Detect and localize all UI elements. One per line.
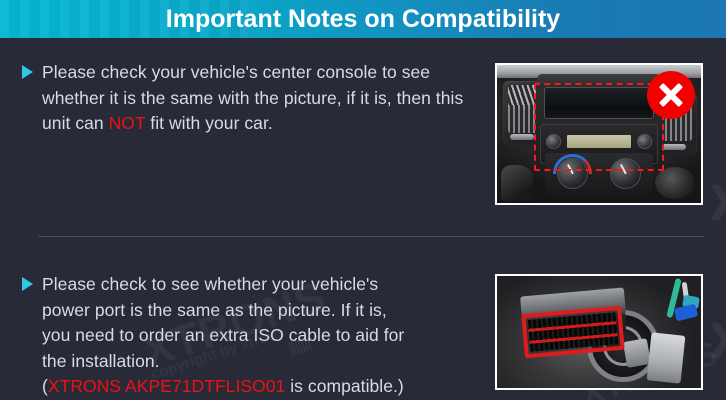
vent-knob-left [510, 134, 534, 140]
white-connector [647, 332, 686, 383]
product-code: XTRONS AKPE71DTFLISO01 [48, 376, 285, 396]
note-item-1: Please check your vehicle's center conso… [22, 60, 482, 137]
note-2-text: Please check to see whether your vehicle… [42, 272, 404, 400]
grey-connector [623, 338, 651, 368]
harness-pin-grid [528, 312, 618, 352]
console-image-canvas [497, 65, 701, 203]
cup-holder [655, 167, 695, 199]
red-x-badge [647, 71, 695, 119]
gear-lever [501, 165, 533, 201]
note-2-line-3: you need to order an extra ISO cable to … [42, 325, 404, 345]
car-center-console-photo [495, 63, 703, 205]
note-2-paren-rest: is compatible.) [285, 376, 403, 396]
page-title: Important Notes on Compatibility [166, 0, 560, 38]
note-2-line-4: the installation. [42, 351, 160, 371]
triangle-right-icon [22, 277, 33, 291]
x-mark-icon [659, 83, 683, 107]
red-harness-outline [521, 306, 624, 359]
page-header: Important Notes on Compatibility [0, 0, 726, 38]
compatibility-notes-page: Important Notes on Compatibility XTRONS … [0, 0, 726, 400]
vent-knob-right [662, 144, 686, 150]
note-1-text-after: fit with your car. [145, 113, 272, 133]
note-1-text: Please check your vehicle's center conso… [42, 60, 482, 137]
vehicle-power-port-photo [495, 274, 703, 390]
note-item-2: Please check to see whether your vehicle… [22, 272, 484, 400]
power-port-image-canvas [497, 276, 701, 388]
note-2-line-1: Please check to see whether your vehicle… [42, 274, 378, 294]
watermark-chevron-2: ❯ [706, 318, 726, 358]
watermark-chevron-1: ❯ [706, 180, 726, 220]
triangle-right-icon [22, 65, 33, 79]
red-dashed-rectangle [534, 83, 664, 171]
section-divider [38, 236, 704, 237]
note-1-highlight-not: NOT [109, 113, 146, 133]
note-2-line-2: power port is the same as the picture. I… [42, 300, 387, 320]
